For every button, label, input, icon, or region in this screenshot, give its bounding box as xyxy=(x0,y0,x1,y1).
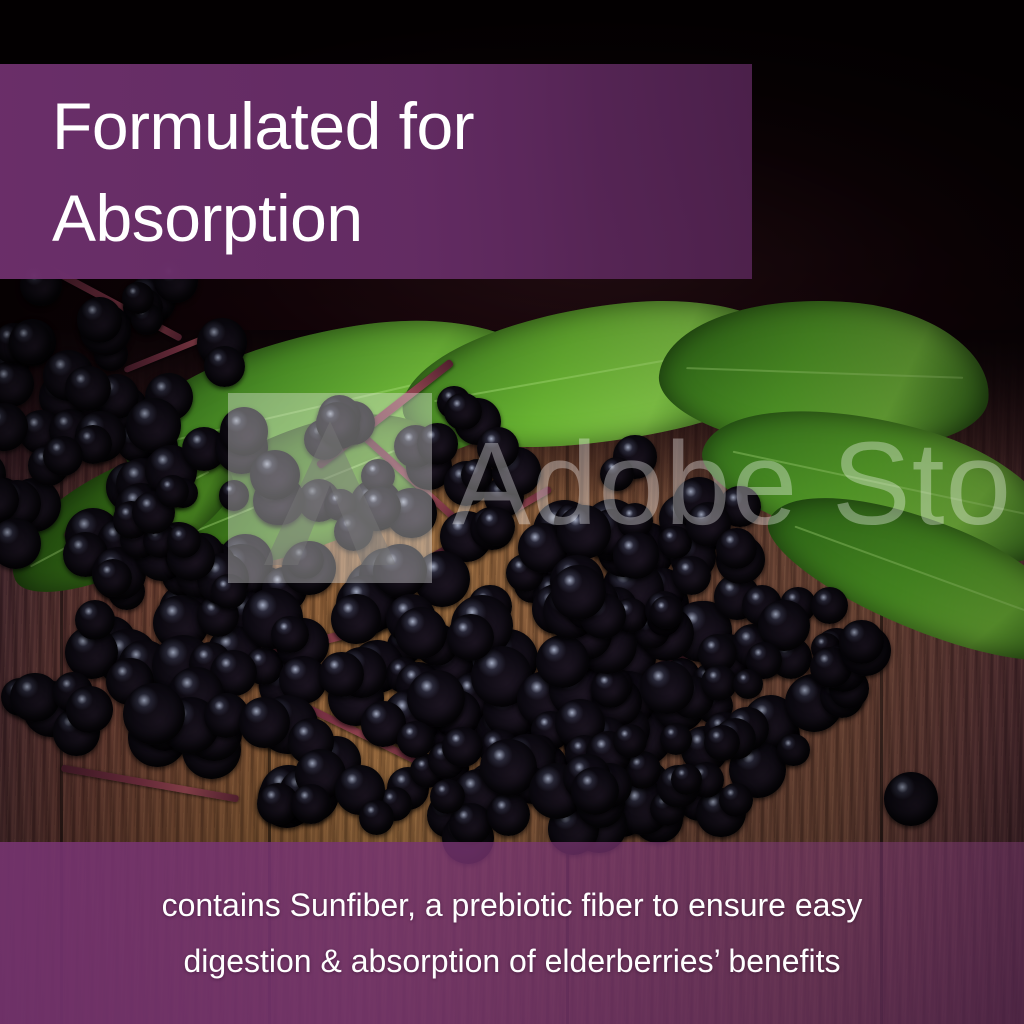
title-line-2: Absorption xyxy=(52,172,752,264)
caption-line-2: digestion & absorption of elderberries’ … xyxy=(184,933,841,989)
caption-overlay: contains Sunfiber, a prebiotic fiber to … xyxy=(0,842,1024,1024)
slide-canvas: Adobe Sto Formulated for Absorption cont… xyxy=(0,0,1024,1024)
caption-line-1: contains Sunfiber, a prebiotic fiber to … xyxy=(162,877,863,933)
title-banner: Formulated for Absorption xyxy=(0,64,752,279)
title-line-1: Formulated for xyxy=(52,80,752,172)
